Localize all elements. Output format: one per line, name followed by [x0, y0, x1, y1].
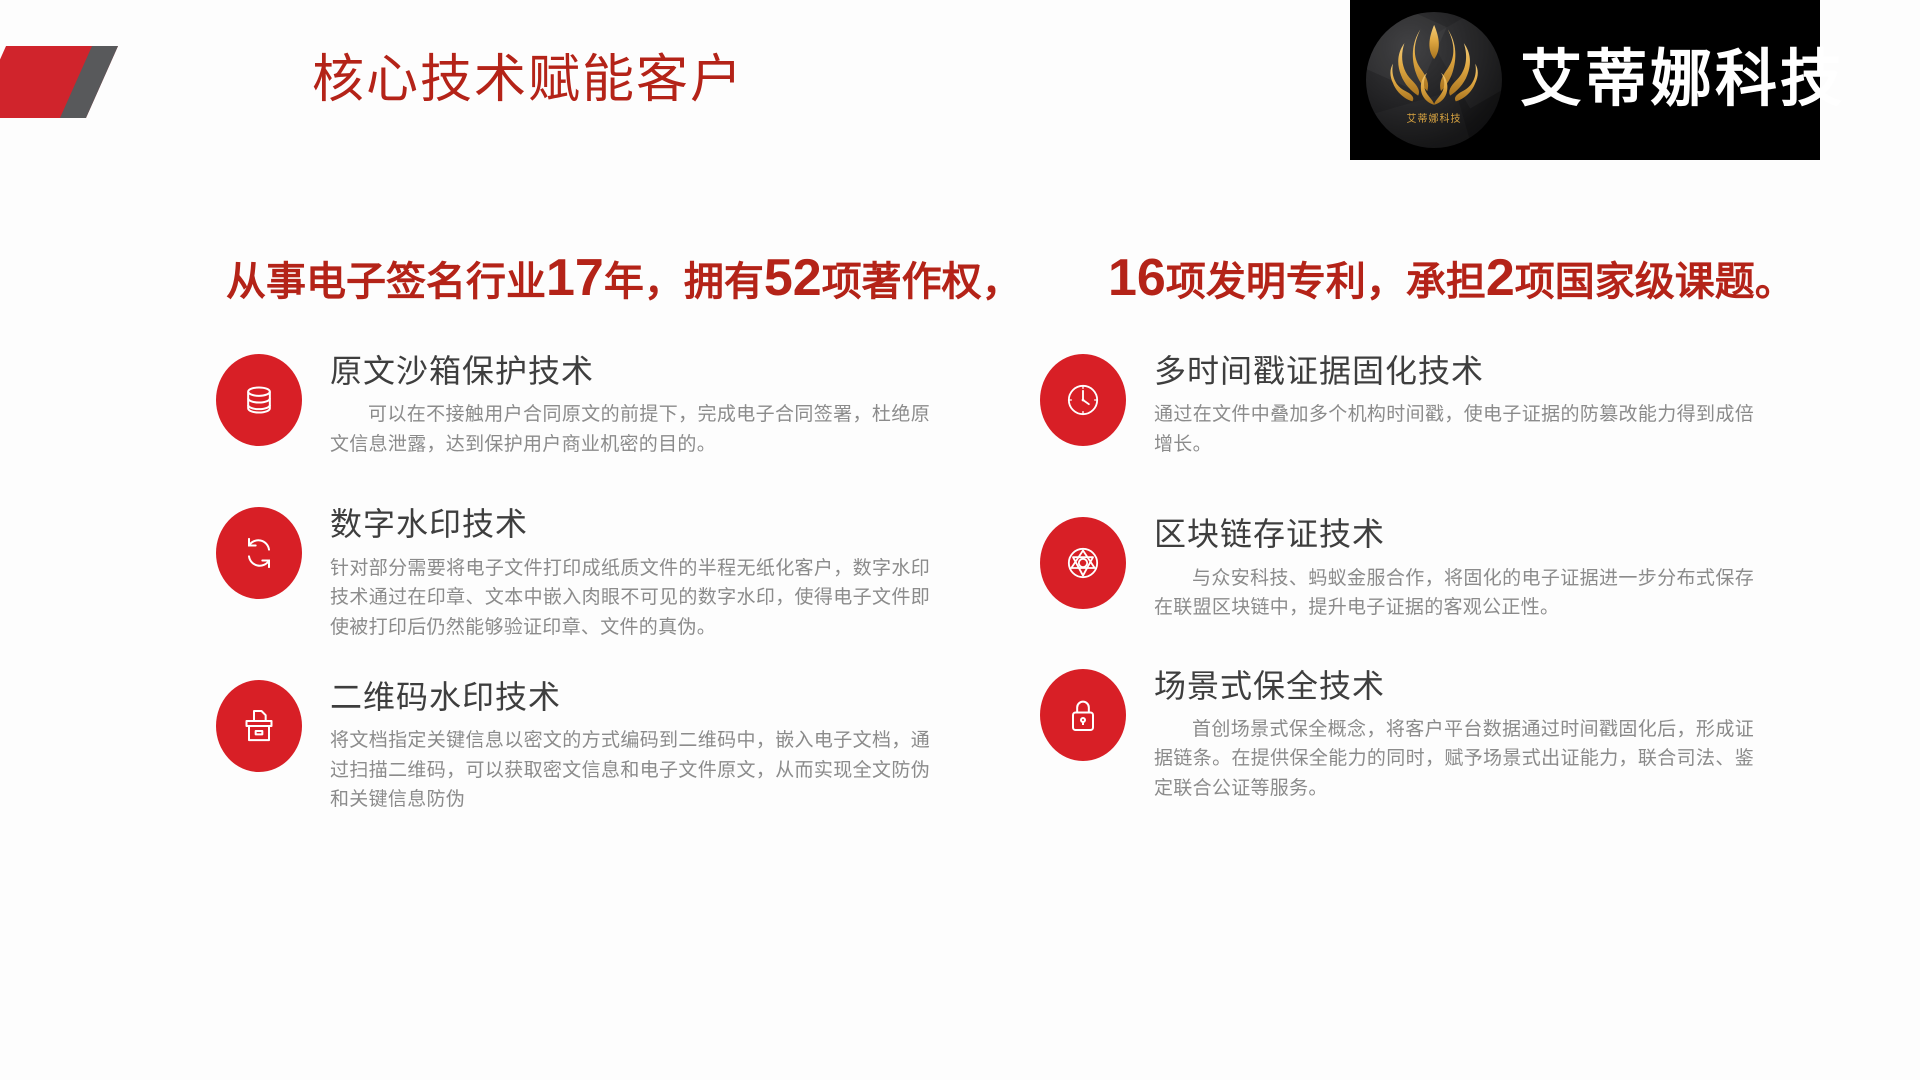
feature-item: 原文沙箱保护技术 可以在不接触用户合同原文的前提下，完成电子合同签署，杜绝原文信… — [216, 350, 956, 459]
feature-description: 通过在文件中叠加多个机构时间戳，使电子证据的防篡改能力得到成倍增长。 — [1154, 400, 1754, 459]
stat-line-left: 从事电子签名行业17年，拥有52项著作权， — [226, 252, 1022, 304]
page-title: 核心技术赋能客户 — [312, 48, 744, 113]
icon-badge — [216, 680, 302, 772]
refresh-cycle-icon — [239, 533, 279, 573]
stat-headlines: 从事电子签名行业17年，拥有52项著作权， 16项发明专利，承担2项国家级课题。 — [0, 250, 1920, 314]
feature-title: 数字水印技术 — [330, 505, 956, 543]
stat-right-mid: 项发明专利，承担 — [1166, 260, 1486, 304]
feature-description: 首创场景式保全概念，将客户平台数据通过时间戳固化后，形成证据链条。在提供保全能力… — [1154, 715, 1754, 803]
stat-left-number-copyrights: 52 — [764, 249, 822, 307]
stat-line-right: 16项发明专利，承担2项国家级课题。 — [1108, 252, 1795, 304]
lock-icon — [1063, 695, 1103, 735]
blockchain-network-icon — [1063, 543, 1103, 583]
ornamental-emblem-icon — [1377, 17, 1491, 115]
feature-item: 场景式保全技术 首创场景式保全概念，将客户平台数据通过时间戳固化后，形成证据链条… — [1040, 665, 1780, 804]
icon-badge — [1040, 517, 1126, 609]
feature-description: 可以在不接触用户合同原文的前提下，完成电子合同签署，杜绝原文信息泄露，达到保护用… — [330, 400, 930, 459]
database-icon — [239, 380, 279, 420]
feature-column-left: 原文沙箱保护技术 可以在不接触用户合同原文的前提下，完成电子合同签署，杜绝原文信… — [216, 350, 956, 849]
feature-item: 数字水印技术 针对部分需要将电子文件打印成纸质文件的半程无纸化客户，数字水印技术… — [216, 503, 956, 642]
feature-title: 多时间戳证据固化技术 — [1154, 352, 1780, 390]
logo-mark-caption: 艾蒂娜科技 — [1366, 110, 1502, 125]
icon-badge — [1040, 669, 1126, 761]
slide-canvas: 核心技术赋能客户 — [0, 0, 1920, 1080]
feature-description: 将文档指定关键信息以密文的方式编码到二维码中，嵌入电子文档，通过扫描二维码，可以… — [330, 726, 930, 814]
feature-title: 场景式保全技术 — [1154, 667, 1780, 705]
feature-title: 区块链存证技术 — [1154, 515, 1780, 553]
stat-left-suffix: 项著作权， — [822, 260, 1022, 304]
feature-item: 二维码水印技术 将文档指定关键信息以密文的方式编码到二维码中，嵌入电子文档，通过… — [216, 676, 956, 815]
feature-title: 二维码水印技术 — [330, 678, 956, 716]
feature-title: 原文沙箱保护技术 — [330, 352, 956, 390]
decorative-ribbon — [0, 46, 150, 118]
feature-description: 针对部分需要将电子文件打印成纸质文件的半程无纸化客户，数字水印技术通过在印章、文… — [330, 554, 930, 642]
logo-banner: 艾蒂娜科技 艾蒂娜科技 — [1350, 0, 1820, 160]
stat-left-mid: 年，拥有 — [604, 260, 764, 304]
stat-left-prefix: 从事电子签名行业 — [226, 260, 546, 304]
icon-badge — [216, 507, 302, 599]
icon-badge — [1040, 354, 1126, 446]
clock-icon — [1063, 380, 1103, 420]
stat-right-number-projects: 2 — [1486, 249, 1515, 307]
stat-right-suffix: 项国家级课题。 — [1515, 260, 1795, 304]
feature-description: 与众安科技、蚂蚁金服合作，将固化的电子证据进一步分布式保存在联盟区块链中，提升电… — [1154, 564, 1754, 623]
company-name: 艾蒂娜科技 — [1520, 49, 1845, 111]
company-logo-mark: 艾蒂娜科技 — [1366, 12, 1502, 148]
feature-item: 区块链存证技术 与众安科技、蚂蚁金服合作，将固化的电子证据进一步分布式保存在联盟… — [1040, 513, 1780, 622]
feature-column-right: 多时间戳证据固化技术 通过在文件中叠加多个机构时间戳，使电子证据的防篡改能力得到… — [1040, 350, 1780, 837]
feature-item: 多时间戳证据固化技术 通过在文件中叠加多个机构时间戳，使电子证据的防篡改能力得到… — [1040, 350, 1780, 459]
icon-badge — [216, 354, 302, 446]
stat-left-number-years: 17 — [546, 249, 604, 307]
stat-right-number-patents: 16 — [1108, 249, 1166, 307]
archive-box-icon — [239, 706, 279, 746]
